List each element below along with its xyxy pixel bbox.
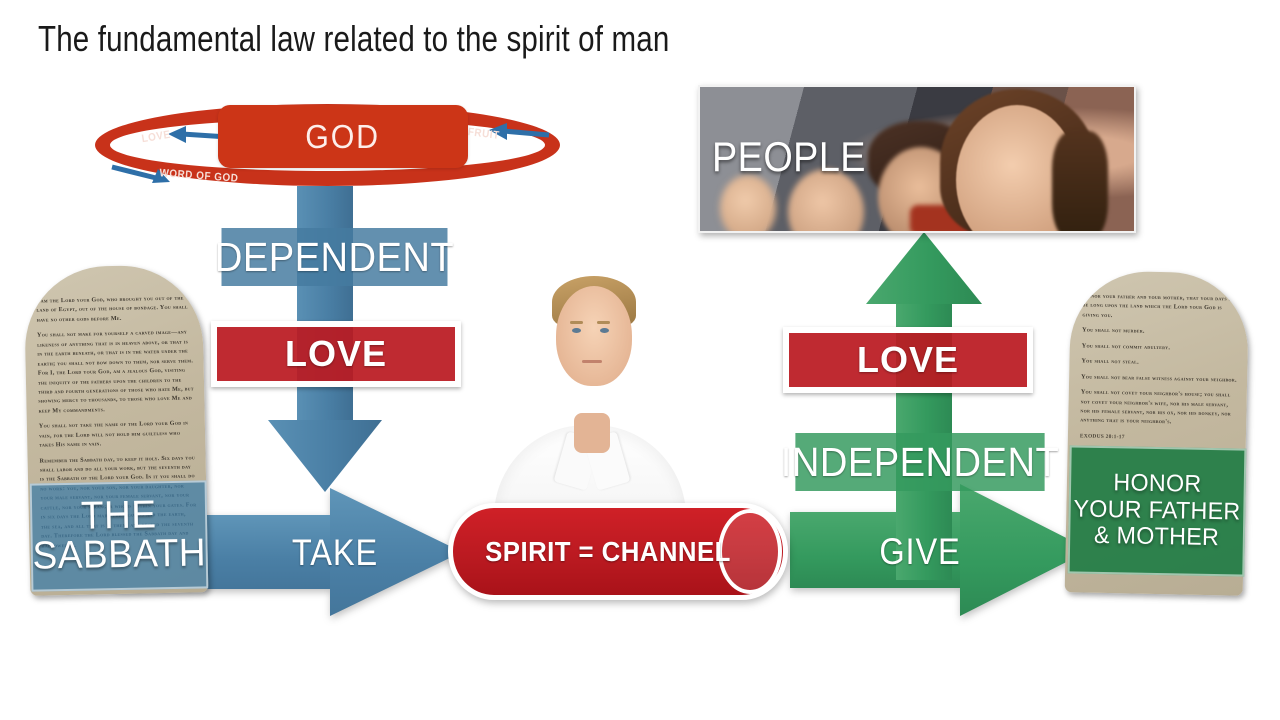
man-eye-right bbox=[600, 328, 609, 333]
commandment-1: I am the Lord your God, who brought you … bbox=[36, 294, 193, 326]
sabbath-banner: THE SABBATH bbox=[30, 480, 208, 591]
independent-label: INDEPENDENT bbox=[795, 433, 1044, 491]
honor-banner: HONOR YOUR FATHER & MOTHER bbox=[1068, 445, 1247, 576]
commandment-3: You shall not take the name of the Lord … bbox=[39, 420, 196, 452]
man-mouth bbox=[582, 360, 602, 363]
give-label: GIVE bbox=[863, 524, 977, 580]
independent-arrow-head-up-icon bbox=[866, 232, 982, 304]
honor-banner-line1: HONOR bbox=[1074, 469, 1241, 499]
dependent-arrow-head-down-icon bbox=[268, 420, 382, 492]
man-eye-left bbox=[572, 328, 581, 333]
spirit-channel-label: SPIRIT = CHANNEL bbox=[479, 528, 737, 576]
god-box: GOD bbox=[218, 105, 468, 168]
commandment-8: You shall not steal. bbox=[1081, 358, 1237, 371]
tablet-right-reference: EXODUS 20:1-17 bbox=[1080, 432, 1236, 444]
people-label: PEOPLE bbox=[712, 133, 866, 181]
take-label: TAKE bbox=[278, 525, 392, 581]
people-face-1 bbox=[720, 175, 776, 233]
love-label-left: LOVE bbox=[211, 321, 461, 387]
tablet-right-text: Honor your father and your mother, that … bbox=[1080, 292, 1239, 449]
dependent-arrow-shaft bbox=[297, 186, 353, 446]
man-neck bbox=[574, 413, 610, 453]
sabbath-banner-line2: SABBATH bbox=[32, 534, 206, 576]
commandment-5: Honor your father and your mother, that … bbox=[1082, 292, 1239, 324]
commandment-6: You shall not murder. bbox=[1082, 327, 1238, 340]
slide-canvas: The fundamental law related to the spiri… bbox=[0, 0, 1280, 720]
god-label: GOD bbox=[306, 118, 381, 156]
commandment-2: You shall not make for yourself a carved… bbox=[37, 329, 195, 417]
honor-banner-line3: & MOTHER bbox=[1073, 523, 1240, 553]
dependent-label: DEPENDENT bbox=[222, 228, 448, 286]
commandment-7: You shall not commit adultery. bbox=[1082, 342, 1238, 355]
page-title: The fundamental law related to the spiri… bbox=[38, 18, 669, 60]
man-brow-left bbox=[570, 321, 583, 324]
man-brow-right bbox=[597, 321, 610, 324]
commandment-9: You shall not bear false witness against… bbox=[1081, 373, 1237, 386]
people-hair-4-side bbox=[1052, 131, 1108, 233]
man-head bbox=[556, 286, 632, 386]
love-label-right: LOVE bbox=[783, 327, 1033, 393]
commandment-10: You shall not covet your neighbor's hous… bbox=[1080, 388, 1237, 429]
